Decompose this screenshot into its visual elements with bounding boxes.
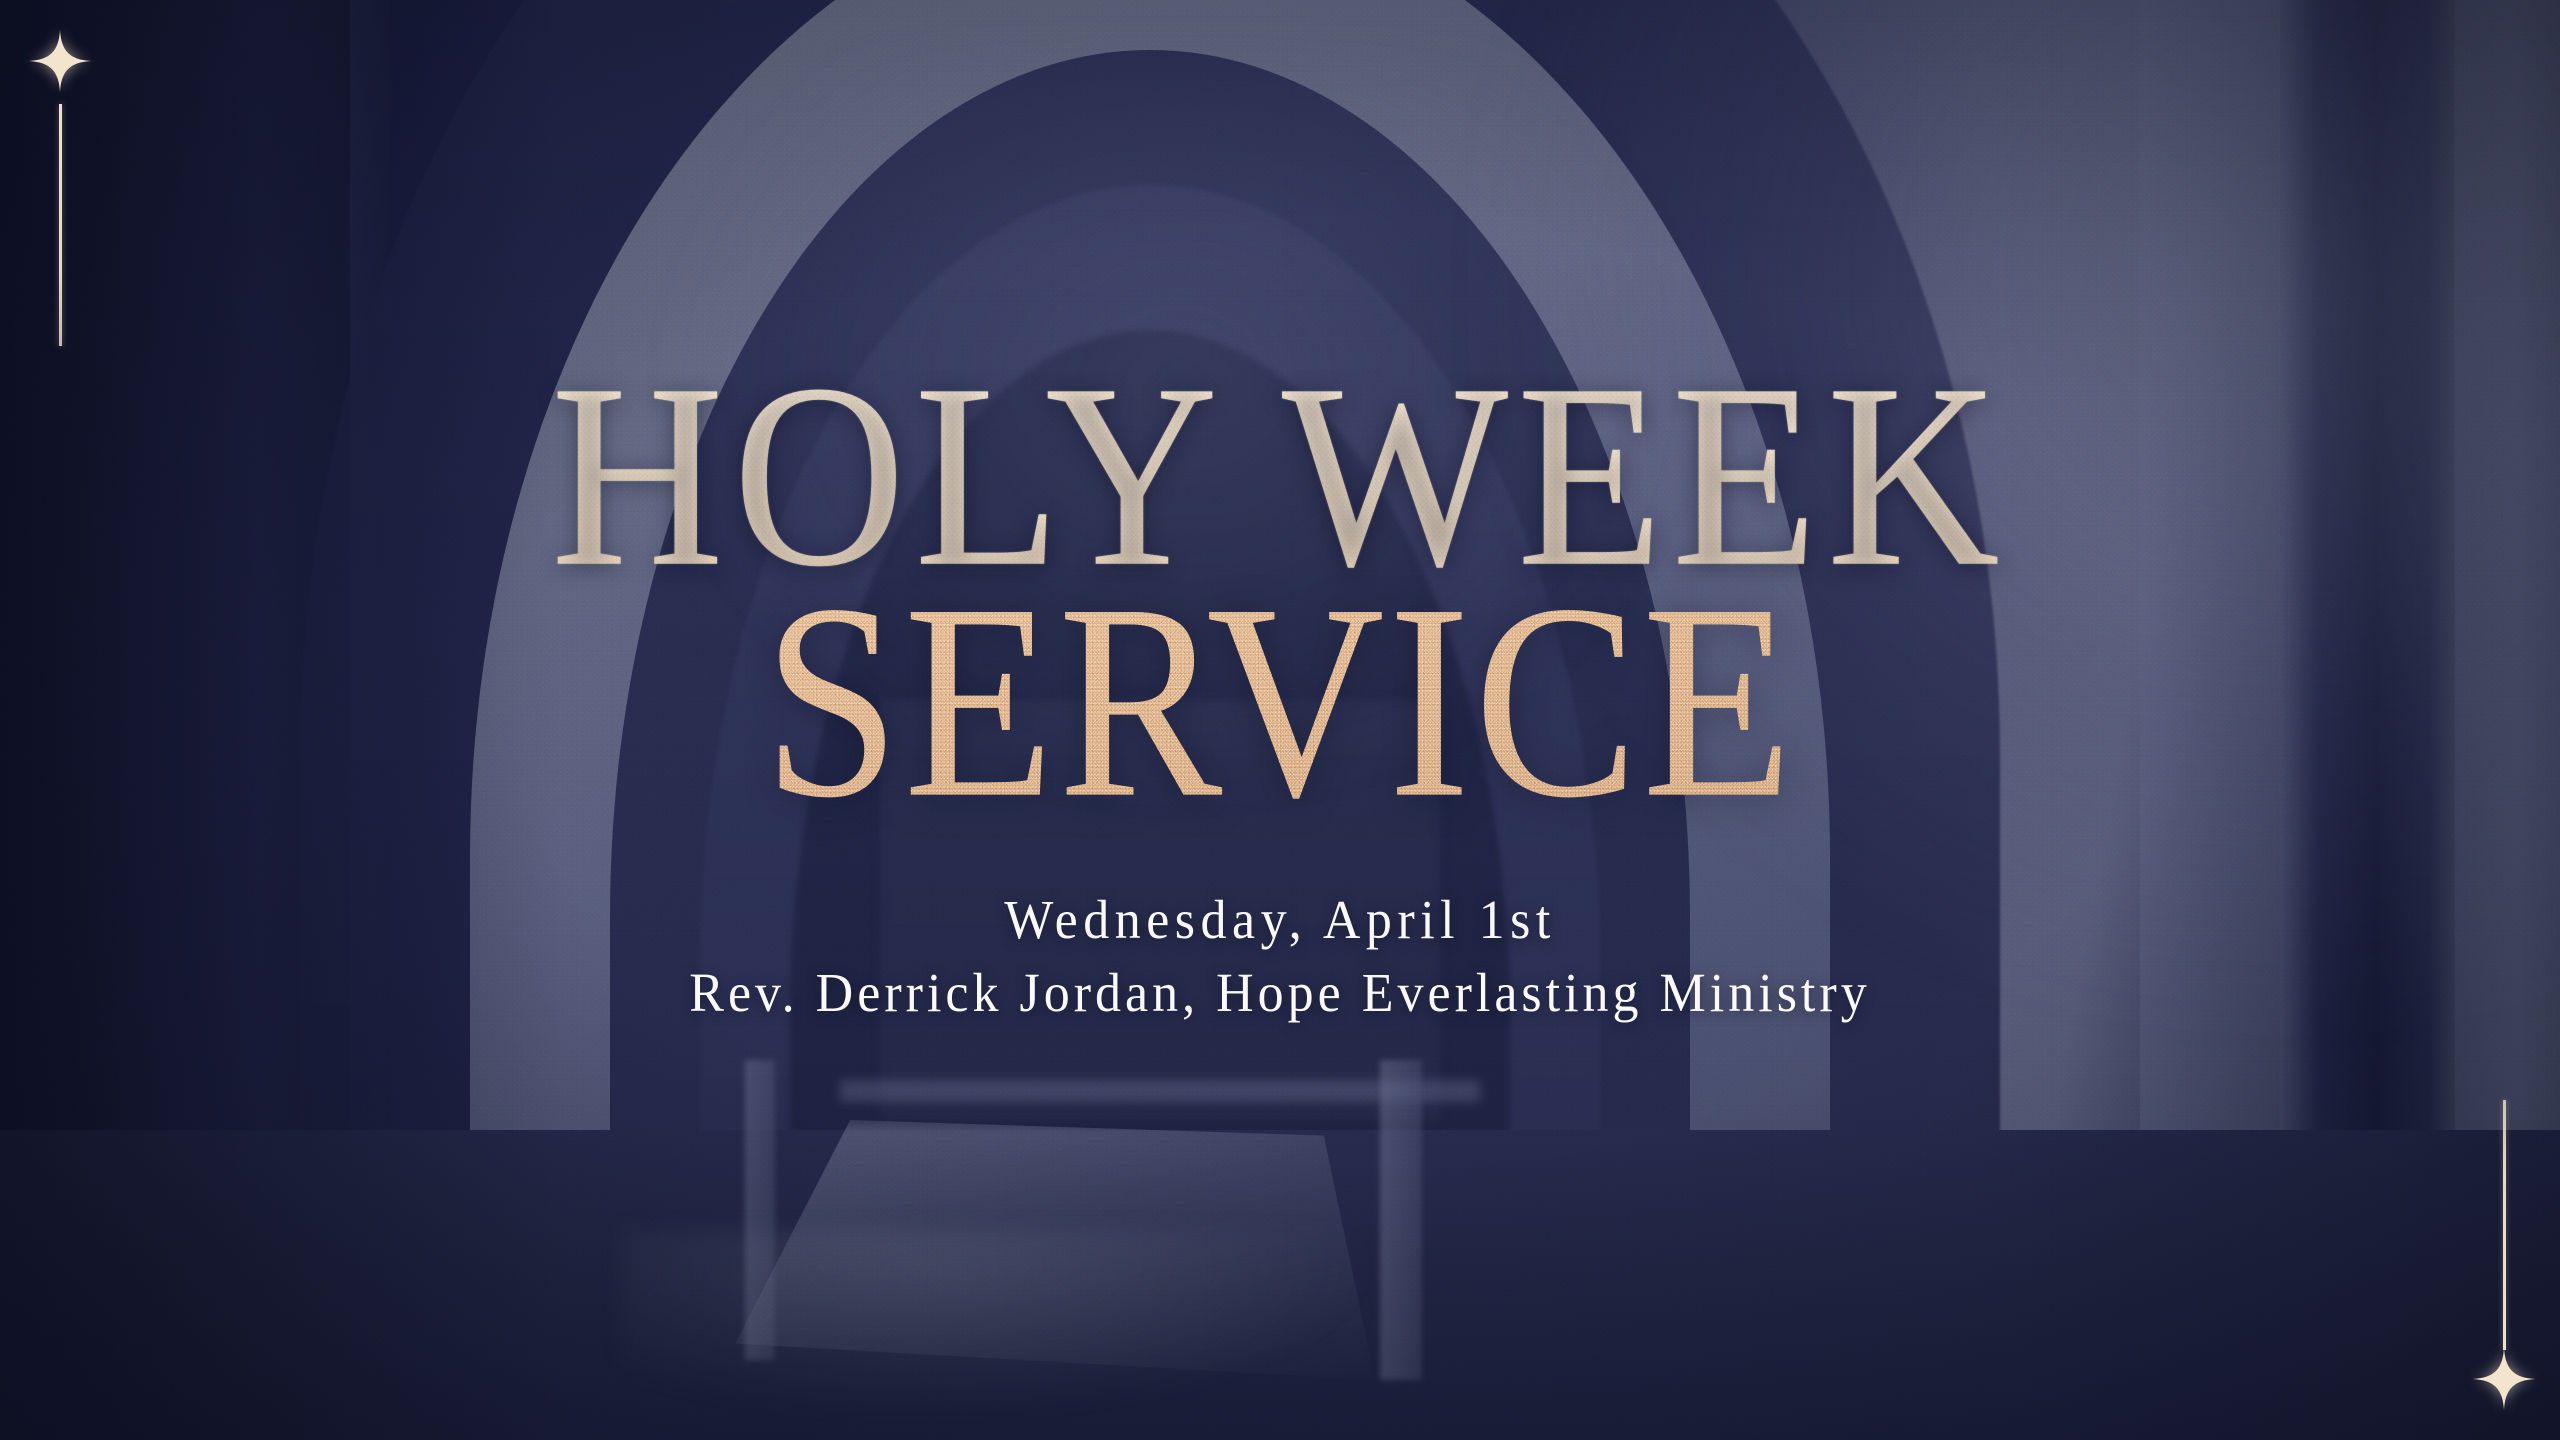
poster-content: HOLY WEEK SERVICE Wednesday, April 1st R… — [0, 0, 2560, 1440]
holy-week-service-poster: HOLY WEEK SERVICE Wednesday, April 1st R… — [0, 0, 2560, 1440]
event-date: Wednesday, April 1st — [1004, 889, 1556, 952]
event-details: Wednesday, April 1st Rev. Derrick Jordan… — [689, 891, 1870, 1023]
headline-service: SERVICE — [763, 582, 1796, 822]
event-speaker: Rev. Derrick Jordan, Hope Everlasting Mi… — [689, 962, 1870, 1025]
